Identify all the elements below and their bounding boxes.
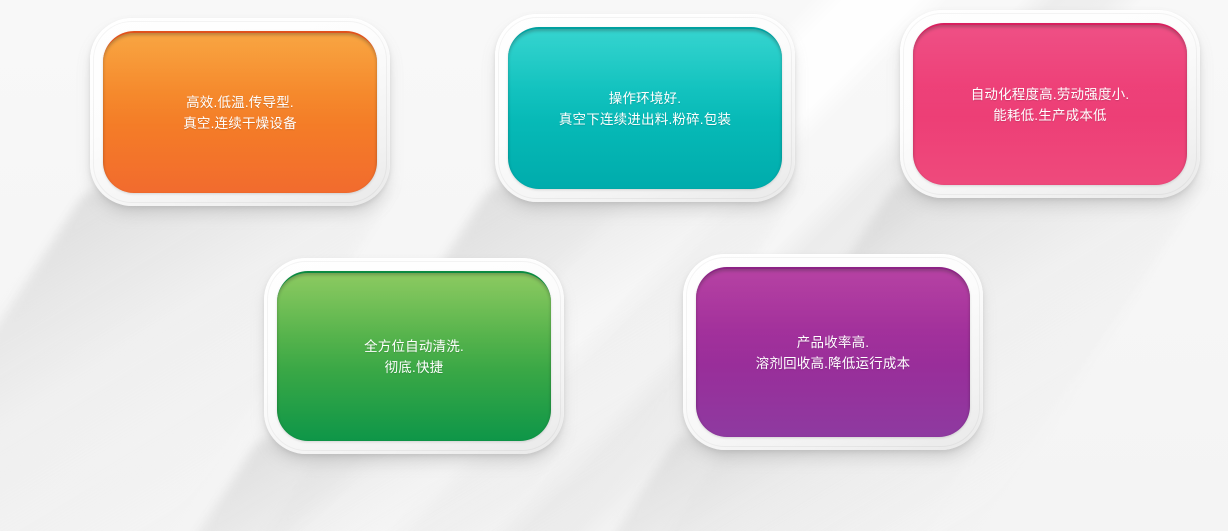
card-panel-environment: 操作环境好. 真空下连续进出料.粉碎.包装	[508, 27, 782, 189]
card-panel-efficiency: 高效.低温.传导型. 真空.连续干燥设备	[103, 31, 377, 193]
card-text-environment: 操作环境好. 真空下连续进出料.粉碎.包装	[559, 88, 731, 130]
card-product-yield[interactable]: 产品收率高. 溶剂回收高.降低运行成本	[683, 254, 983, 450]
card-text-automation: 自动化程度高.劳动强度小. 能耗低.生产成本低	[971, 84, 1130, 126]
card-panel-yield: 产品收率高. 溶剂回收高.降低运行成本	[696, 267, 970, 437]
card-efficiency[interactable]: 高效.低温.传导型. 真空.连续干燥设备	[90, 18, 390, 206]
card-panel-cleaning: 全方位自动清洗. 彻底.快捷	[277, 271, 551, 441]
card-panel-automation: 自动化程度高.劳动强度小. 能耗低.生产成本低	[913, 23, 1187, 185]
card-text-yield: 产品收率高. 溶剂回收高.降低运行成本	[756, 332, 911, 374]
card-text-cleaning: 全方位自动清洗. 彻底.快捷	[364, 336, 464, 378]
card-auto-cleaning[interactable]: 全方位自动清洗. 彻底.快捷	[264, 258, 564, 454]
card-text-efficiency: 高效.低温.传导型. 真空.连续干燥设备	[183, 92, 297, 134]
card-automation[interactable]: 自动化程度高.劳动强度小. 能耗低.生产成本低	[900, 10, 1200, 198]
card-operating-environment[interactable]: 操作环境好. 真空下连续进出料.粉碎.包装	[495, 14, 795, 202]
